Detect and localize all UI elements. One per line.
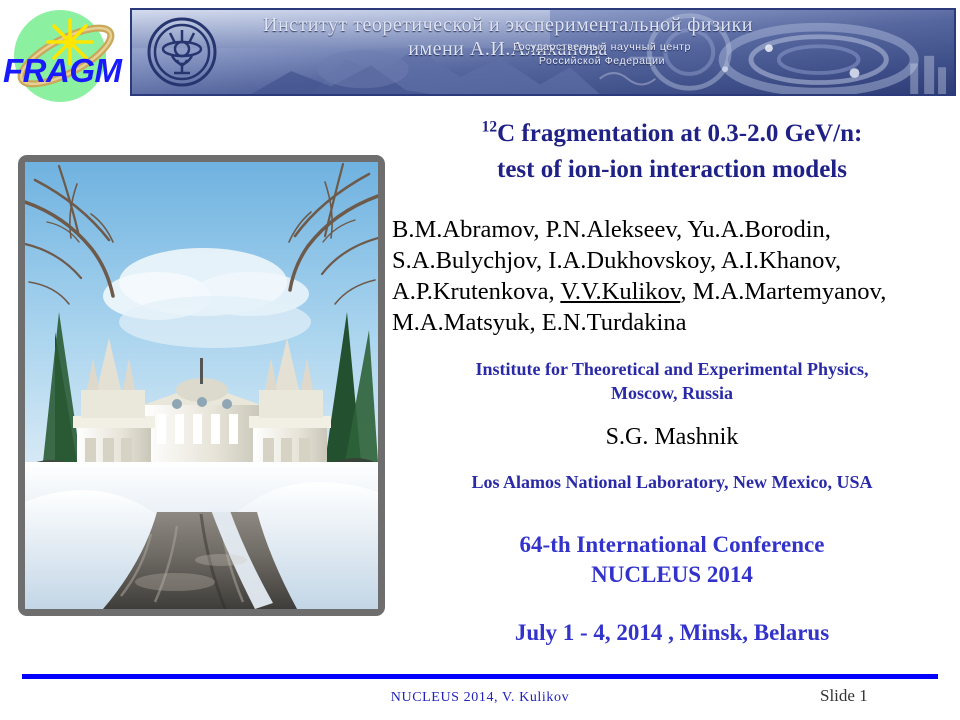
author-line-2: S.A.Bulychjov, I.A.Dukhovskoy, A.I.Khano… <box>392 245 960 276</box>
author-line-4: M.A.Matsyuk, E.N.Turdakina <box>392 307 960 338</box>
affiliation-itep-line1: Institute for Theoretical and Experiment… <box>392 358 952 382</box>
presenting-author: V.V.Kulikov <box>560 278 680 305</box>
isotope-superscript: 12 <box>482 119 498 136</box>
author-line-3: A.P.Krutenkova, V.V.Kulikov, M.A.Martemy… <box>392 276 960 307</box>
slide-title-line2: test of ion-ion interaction models <box>392 152 952 188</box>
photo-artwork <box>25 162 378 609</box>
fragm-logo: FRAGM <box>2 2 130 110</box>
author-line-3-after: , M.A.Martemyanov, <box>680 278 886 305</box>
author-line-1: B.M.Abramov, P.N.Alekseev, Yu.A.Borodin, <box>392 214 960 245</box>
affiliation-itep: Institute for Theoretical and Experiment… <box>392 358 952 406</box>
itep-atom-emblem-icon <box>146 16 218 88</box>
conference-line1: 64-th International Conference <box>392 530 952 560</box>
slide-title-line1: 12C fragmentation at 0.3-2.0 GeV/n: <box>392 116 952 152</box>
presentation-slide: FRAGM <box>0 0 960 720</box>
slide-number: Slide 1 <box>820 686 940 706</box>
itep-photo <box>25 162 378 609</box>
banner-subtitle-line2: Российской Федерации <box>432 55 772 67</box>
author-mashnik: S.G. Mashnik <box>392 424 952 451</box>
conference-line2: NUCLEUS 2014 <box>392 560 952 590</box>
banner-institute-line1: Институт теоретической и экспериментальн… <box>228 14 788 37</box>
conference-block: 64-th International Conference NUCLEUS 2… <box>392 530 952 591</box>
author-list: B.M.Abramov, P.N.Alekseev, Yu.A.Borodin,… <box>392 214 960 338</box>
banner-subtitle-line1: Государственный научный центр <box>432 41 772 53</box>
itep-banner: Институт теоретической и экспериментальн… <box>130 8 956 96</box>
logo-wordmark: FRAGM <box>3 54 133 87</box>
slide-title: 12C fragmentation at 0.3-2.0 GeV/n: test… <box>392 116 952 189</box>
conference-dateline: July 1 - 4, 2014 , Minsk, Belarus <box>392 620 952 646</box>
author-line-3-before: A.P.Krutenkova, <box>392 278 560 305</box>
itep-photo-frame <box>18 155 385 616</box>
slide-title-line1-text: C fragmentation at 0.3-2.0 GeV/n: <box>497 120 862 147</box>
affiliation-itep-line2: Moscow, Russia <box>392 382 952 406</box>
footer-text: NUCLEUS 2014, V. Kulikov <box>280 690 680 706</box>
affiliation-lanl: Los Alamos National Laboratory, New Mexi… <box>392 472 952 493</box>
footer-divider <box>22 674 938 679</box>
